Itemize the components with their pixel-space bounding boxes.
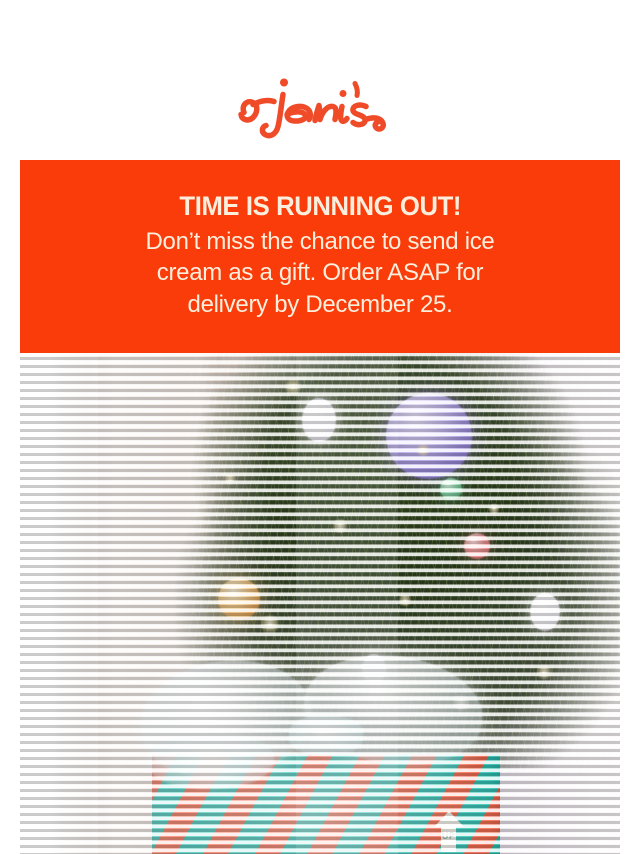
promo-headline: TIME IS RUNNING OUT!: [179, 192, 461, 221]
bow-knot: [289, 716, 363, 755]
bow-tail: [147, 734, 273, 789]
light-sparkle: [284, 378, 302, 396]
gift-up-label: UP: [442, 831, 456, 841]
email-header: [0, 0, 640, 160]
jenis-logo[interactable]: [0, 62, 640, 142]
hero-image[interactable]: UP: [20, 353, 620, 854]
promo-body-line-1: Don’t miss the chance to send ice: [146, 228, 495, 255]
promo-body: Don’t miss the chance to send ice cream …: [146, 226, 495, 321]
promo-banner: TIME IS RUNNING OUT! Don’t miss the chan…: [20, 160, 620, 353]
light-sparkle: [260, 614, 280, 634]
ornament-purple-large-icon: [386, 393, 472, 479]
logo-dot-j: [280, 79, 288, 87]
email-canvas: TIME IS RUNNING OUT! Don’t miss the chan…: [0, 0, 640, 854]
promo-body-line-2: cream as a gift. Order ASAP for: [157, 259, 483, 286]
promo-body-line-3: delivery by December 25.: [188, 291, 453, 318]
ornament-white-upper-icon: [302, 398, 336, 442]
jenis-script-wordmark-icon: [235, 64, 405, 140]
gift-up-arrow-icon: UP: [429, 811, 469, 853]
gift-bow: [140, 654, 512, 784]
logo-apostrophe: [355, 84, 357, 96]
logo-dot-i: [340, 90, 347, 97]
light-sparkle: [536, 664, 552, 680]
